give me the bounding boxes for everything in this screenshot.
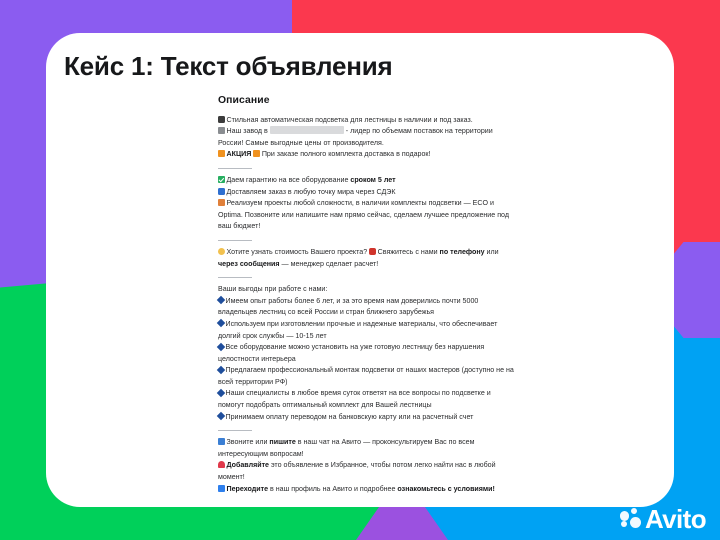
benefit-top-3-text: Реализуем проекты любой сложности, в нал… xyxy=(218,199,509,230)
contact-line: Хотите узнать стоимость Вашего проекта? … xyxy=(218,247,518,270)
intro-line-2: Наш завод в - лидер по объемам поставок … xyxy=(218,126,518,149)
benefit-item: Принимаем оплату переводом на банковскую… xyxy=(218,412,518,424)
benefit-item-text: Используем при изготовлении прочные и на… xyxy=(218,320,497,340)
thinking-face-icon xyxy=(218,248,225,255)
cta-profile-bold2: ознакомьтесь с условиями! xyxy=(397,485,495,493)
handshake-icon xyxy=(218,199,225,206)
diamond-bullet-icon xyxy=(217,412,225,420)
avito-dots-icon xyxy=(620,508,642,530)
heart-icon xyxy=(218,461,225,468)
lamp-icon xyxy=(218,116,225,123)
benefit-item-text: Все оборудование можно установить на уже… xyxy=(218,343,484,363)
redacted-company-name xyxy=(270,126,344,134)
slide-canvas: Кейс 1: Текст объявления Описание Стильн… xyxy=(0,0,720,540)
listing-intro-block: Стильная автоматическая подсветка для ле… xyxy=(218,115,518,161)
listing-cta-block: Звоните или пишите в наш чат на Авито — … xyxy=(218,437,518,495)
listing-benefits-top: Даем гарантию на все оборудование сроком… xyxy=(218,175,518,233)
contact-part3: или xyxy=(485,248,499,256)
cta-favorite-bold: Добавляйте xyxy=(227,461,270,469)
contact-bold-messages: через сообщения xyxy=(218,260,280,268)
gift-icon-secondary xyxy=(253,150,260,157)
page-title: Кейс 1: Текст объявления xyxy=(64,51,393,82)
benefit-top-1-text: Даем гарантию на все оборудование xyxy=(227,176,351,184)
avito-wordmark: Avito xyxy=(645,506,706,532)
benefit-top-2: Доставляем заказ в любую точку мира чере… xyxy=(218,187,518,199)
divider-4 xyxy=(218,430,252,431)
intro-line-1-text: Стильная автоматическая подсветка для ле… xyxy=(227,116,473,124)
intro-line-3-rest: При заказе полного комплекта доставка в … xyxy=(262,150,431,158)
benefit-item: Наши специалисты в любое время суток отв… xyxy=(218,388,518,411)
benefit-item: Все оборудование можно установить на уже… xyxy=(218,342,518,365)
promo-label: АКЦИЯ xyxy=(227,150,252,158)
cta-item-call: Звоните или пишите в наш чат на Авито — … xyxy=(218,437,518,460)
phone-chat-icon xyxy=(218,438,225,445)
content-card: Кейс 1: Текст объявления Описание Стильн… xyxy=(46,33,674,507)
gift-icon xyxy=(218,150,225,157)
benefit-top-2-text: Доставляем заказ в любую точку мира чере… xyxy=(227,188,396,196)
divider-1 xyxy=(218,168,252,169)
contact-bold-phone: по телефону xyxy=(440,248,485,256)
listing-contact-block: Хотите узнать стоимость Вашего проекта? … xyxy=(218,247,518,270)
cta-call-bold: пишите xyxy=(269,438,295,446)
cta-call-part1: Звоните или xyxy=(227,438,270,446)
divider-2 xyxy=(218,240,252,241)
benefit-item-text: Предлагаем профессиональный монтаж подсв… xyxy=(218,366,514,386)
benefit-item-text: Наши специалисты в любое время суток отв… xyxy=(218,389,491,409)
card-icon xyxy=(218,485,225,492)
intro-line-1: Стильная автоматическая подсветка для ле… xyxy=(218,115,518,127)
cta-item-favorite: Добавляйте это объявление в Избранное, ч… xyxy=(218,460,518,483)
avito-logo: Avito xyxy=(620,506,706,532)
benefit-item: Имеем опыт работы более 6 лет, и за это … xyxy=(218,296,518,319)
contact-question: Хотите узнать стоимость Вашего проекта? xyxy=(227,248,368,256)
listing-description-screenshot: Описание Стильная автоматическая подсвет… xyxy=(218,95,518,495)
intro-line-3: АКЦИЯ При заказе полного комплекта доста… xyxy=(218,149,518,161)
cta-profile-bold: Переходите xyxy=(227,485,269,493)
listing-heading: Описание xyxy=(218,95,518,107)
diamond-bullet-icon xyxy=(217,366,225,374)
contact-part2: Свяжитесь с нами xyxy=(378,248,440,256)
benefit-item-text: Принимаем оплату переводом на банковскую… xyxy=(226,413,474,421)
listing-benefits-section: Ваши выгоды при работе с нами: Имеем опы… xyxy=(218,284,518,423)
benefit-top-3: Реализуем проекты любой сложности, в нал… xyxy=(218,198,518,233)
cta-item-profile: Переходите в наш профиль на Авито и подр… xyxy=(218,484,518,496)
diamond-bullet-icon xyxy=(217,389,225,397)
benefit-top-1: Даем гарантию на все оборудование сроком… xyxy=(218,175,518,187)
diamond-bullet-icon xyxy=(217,342,225,350)
benefit-item-text: Имеем опыт работы более 6 лет, и за это … xyxy=(218,297,478,317)
phone-icon xyxy=(369,248,376,255)
delivery-truck-icon xyxy=(218,188,225,195)
diamond-bullet-icon xyxy=(217,319,225,327)
benefit-top-1-bold: сроком 5 лет xyxy=(350,176,395,184)
intro-line-2-before: Наш завод в xyxy=(227,127,268,135)
contact-part4: — менеджер сделает расчет! xyxy=(280,260,379,268)
divider-3 xyxy=(218,277,252,278)
cta-profile-part2: в наш профиль на Авито и подробнее xyxy=(268,485,397,493)
green-check-icon xyxy=(218,176,225,183)
benefits-intro: Ваши выгоды при работе с нами: xyxy=(218,284,518,296)
benefit-item: Предлагаем профессиональный монтаж подсв… xyxy=(218,365,518,388)
factory-icon xyxy=(218,127,225,134)
benefit-item: Используем при изготовлении прочные и на… xyxy=(218,319,518,342)
diamond-bullet-icon xyxy=(217,296,225,304)
